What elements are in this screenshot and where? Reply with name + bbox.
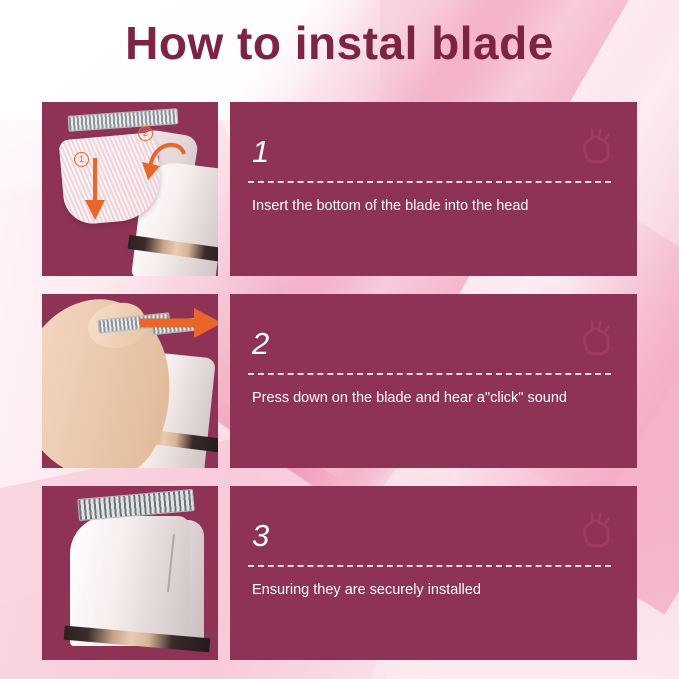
step-image-3 (42, 486, 218, 660)
step-number-3: 3 (252, 520, 615, 551)
step-description-2: Press down on the blade and hear a"click… (252, 389, 604, 408)
arrow-right-icon (138, 306, 218, 340)
step-number-1: 1 (252, 136, 615, 167)
step-text-card-1: 1 Insert the bottom of the blade into th… (230, 102, 637, 276)
steps-list: 1 2 1 Insert the bottom of the blade int… (42, 102, 637, 660)
divider (248, 181, 611, 183)
instruction-graphic: How to instal blade (0, 0, 679, 679)
step-text-card-2: 2 Press down on the blade and hear a"cli… (230, 294, 637, 468)
marker-2: 2 (138, 126, 153, 141)
step-image-2 (42, 294, 218, 468)
step-number-2: 2 (252, 328, 615, 359)
divider (248, 373, 611, 375)
step-description-3: Ensuring they are securely installed (252, 581, 604, 600)
page-title: How to instal blade (0, 16, 679, 70)
step-description-1: Insert the bottom of the blade into the … (252, 197, 604, 216)
step-row: 2 Press down on the blade and hear a"cli… (42, 294, 637, 468)
divider (248, 565, 611, 567)
step-text-card-3: 3 Ensuring they are securely installed (230, 486, 637, 660)
step-row: 3 Ensuring they are securely installed (42, 486, 637, 660)
step-image-1: 1 2 (42, 102, 218, 276)
step-row: 1 2 1 Insert the bottom of the blade int… (42, 102, 637, 276)
marker-1: 1 (74, 152, 89, 167)
